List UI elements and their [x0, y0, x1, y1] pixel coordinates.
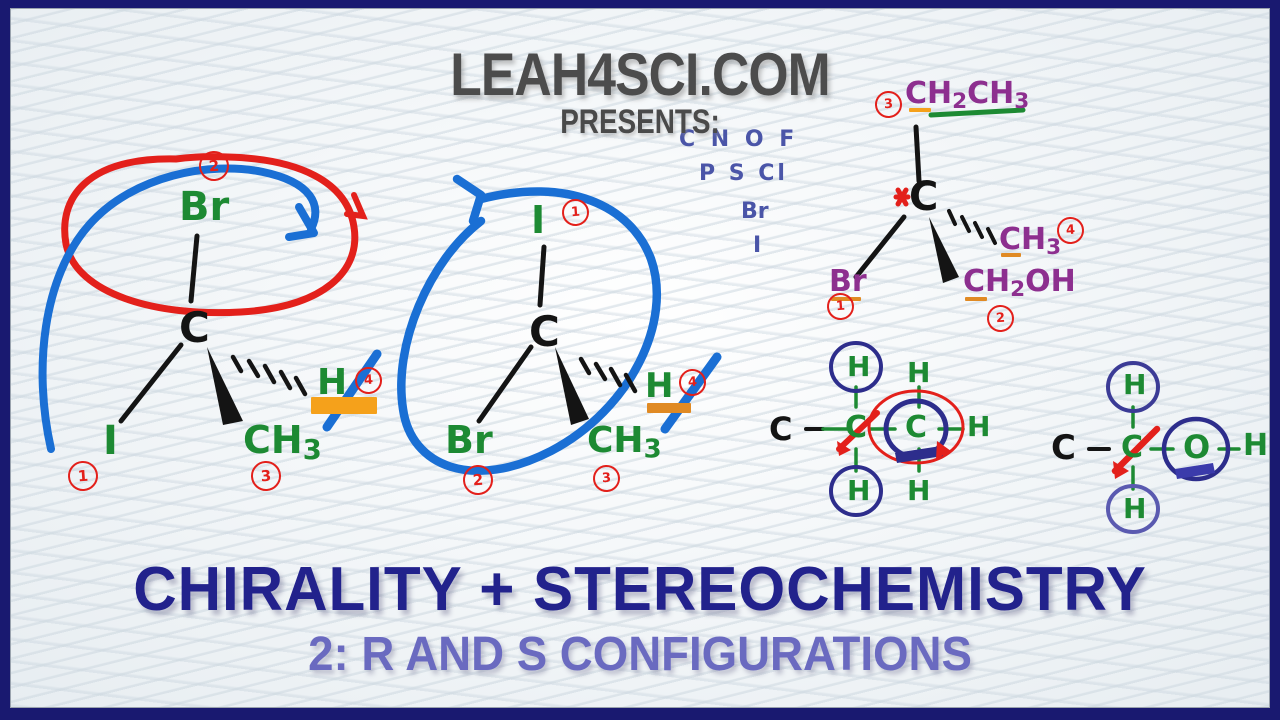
m2-priority-br: 2 — [462, 464, 494, 496]
f2-left-carbon: C — [1051, 431, 1076, 465]
bond-c-br-m1 — [191, 236, 197, 301]
m1-priority-h: 4 — [354, 366, 383, 395]
f1-hydrogen-lower: H — [907, 477, 930, 505]
m2-label-h: H — [645, 369, 673, 403]
m1-priority-br: 2 — [198, 150, 230, 182]
m1-priority-i: 1 — [67, 460, 99, 492]
m2-label-br: Br — [445, 421, 493, 459]
m3-center-carbon: C — [909, 177, 938, 217]
m3-orange-underline-ch3 — [1001, 253, 1021, 257]
f1-right-carbon: C — [905, 413, 927, 443]
wedge-bond-m1 — [207, 347, 243, 425]
m1-priority-ch3: 3 — [250, 460, 282, 492]
f1-hydrogen-upper: H — [907, 359, 930, 387]
f1-left-carbon: C — [769, 413, 792, 445]
m2-label-ch3: CH3 — [587, 423, 662, 464]
m1-label-h: H — [317, 365, 347, 401]
m3-label-br: Br — [829, 267, 867, 297]
f2-hydrogen-bottom: H — [1123, 495, 1146, 523]
hash-bond-m2 — [581, 359, 635, 391]
f1-hydrogen-bottom: H — [847, 477, 870, 505]
priority-list-row-4: I — [753, 233, 761, 258]
main-title-line-2: 2: R AND S CONFIGURATIONS — [42, 631, 1237, 679]
m1-label-ch3: CH3 — [243, 421, 322, 464]
m2-center-carbon: C — [529, 311, 560, 353]
brand-title: LEAH4SCI.COM — [99, 45, 1181, 105]
f1-right-hydrogen: H — [967, 413, 990, 441]
m1-label-i: I — [103, 421, 118, 461]
priority-list-row-2: P S Cl — [699, 161, 788, 186]
f1-center-carbon: C — [845, 413, 867, 443]
f1-hydrogen-top: H — [847, 353, 870, 381]
m2-label-i: I — [531, 201, 545, 239]
m2-priority-ch3: 3 — [592, 464, 621, 493]
m1-center-carbon: C — [179, 307, 210, 349]
bond-c-br-m2 — [479, 347, 531, 421]
m3-priority-ch2oh: 2 — [986, 304, 1015, 333]
m1-label-br: Br — [179, 187, 229, 227]
f2-oxygen: O — [1183, 431, 1210, 463]
wedge-bond-m2 — [555, 347, 589, 425]
f2-hydrogen-top: H — [1123, 371, 1146, 399]
paper-background: Br 2 C I 1 CH3 3 H 4 I 1 C Br 2 CH3 3 H … — [10, 8, 1270, 708]
m2-priority-h: 4 — [678, 368, 707, 397]
thumbnail-canvas: Br 2 C I 1 CH3 3 H 4 I 1 C Br 2 CH3 3 H … — [0, 0, 1280, 720]
wedge-bond-m3 — [929, 217, 959, 283]
m2-priority-i: 1 — [561, 198, 590, 227]
red-asterisk-chiral-center — [896, 190, 908, 204]
m3-orange-underline-ch2oh — [965, 297, 987, 301]
hash-bond-m1 — [233, 357, 305, 394]
f2-terminal-hydrogen: H — [1243, 431, 1268, 461]
presents-label: PRESENTS: — [124, 105, 1156, 139]
bond-c-i-m1 — [121, 345, 181, 421]
f2-center-carbon: C — [1121, 433, 1143, 463]
m3-label-ch2oh: CH2OH — [963, 267, 1076, 300]
main-title-line-1: CHIRALITY + STEREOCHEMISTRY — [30, 559, 1250, 621]
priority-list-row-3: Br — [741, 199, 769, 224]
bond-c-i-m2 — [540, 247, 544, 305]
hash-bond-m3 — [949, 211, 995, 243]
